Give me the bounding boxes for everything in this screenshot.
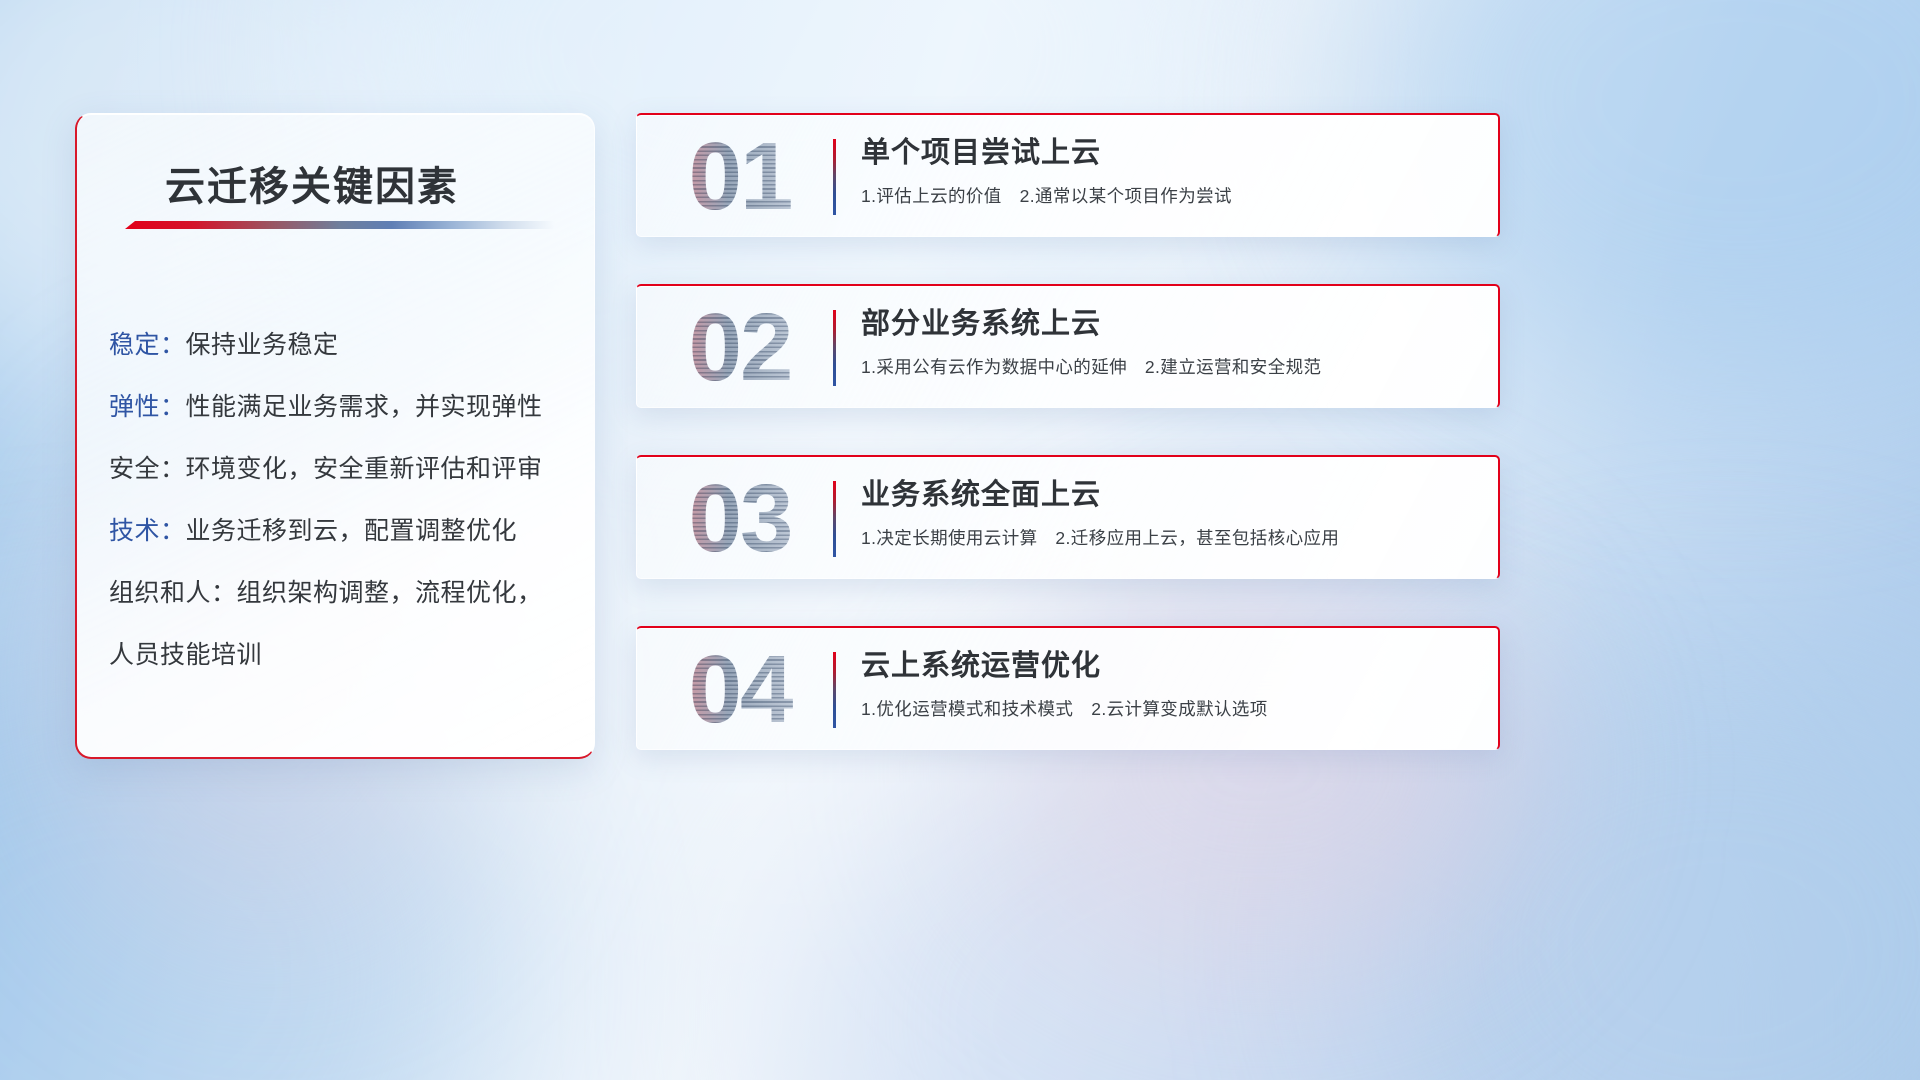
list-item-text: 保持业务稳定 — [186, 331, 339, 359]
list-item: 稳定：保持业务稳定 — [109, 314, 570, 376]
stage-title: 业务系统全面上云 — [861, 475, 1478, 515]
list-item: 弹性：性能满足业务需求，并实现弹性 — [109, 376, 570, 438]
stage-card-body: 业务系统全面上云 1.决定长期使用云计算 2.迁移应用上云，甚至包括核心应用 — [861, 475, 1478, 550]
stage-card-body: 云上系统运营优化 1.优化运营模式和技术模式 2.云计算变成默认选项 — [861, 646, 1478, 721]
stage-subtitle: 1.评估上云的价值 2.通常以某个项目作为尝试 — [861, 184, 1478, 208]
list-item-text: 人员技能培训 — [109, 641, 262, 669]
stage-card-body: 部分业务系统上云 1.采用公有云作为数据中心的延伸 2.建立运营和安全规范 — [861, 304, 1478, 379]
list-item-label: 安全： — [109, 455, 186, 483]
stage-number: 04 — [665, 634, 815, 746]
list-item-text: 性能满足业务需求，并实现弹性 — [186, 393, 543, 421]
stage-number: 03 — [665, 463, 815, 575]
stage-title: 部分业务系统上云 — [861, 304, 1478, 344]
stage-card-body: 单个项目尝试上云 1.评估上云的价值 2.通常以某个项目作为尝试 — [861, 133, 1478, 208]
list-item-label: 技术： — [109, 517, 186, 545]
key-factors-list: 稳定：保持业务稳定 弹性：性能满足业务需求，并实现弹性 安全：环境变化，安全重新… — [109, 314, 570, 686]
stage-card-02[interactable]: 02 部分业务系统上云 1.采用公有云作为数据中心的延伸 2.建立运营和安全规范 — [636, 284, 1500, 408]
stage-title: 单个项目尝试上云 — [861, 133, 1478, 173]
stage-card-03[interactable]: 03 业务系统全面上云 1.决定长期使用云计算 2.迁移应用上云，甚至包括核心应… — [636, 455, 1500, 579]
list-item-label: 弹性： — [109, 393, 186, 421]
stage-divider-bar — [833, 310, 836, 386]
stage-number: 01 — [665, 121, 815, 233]
key-factors-panel: 云迁移关键因素 稳定：保持业务稳定 弹性：性能满足业务需求，并实现弹性 安全：环… — [75, 113, 595, 759]
title-underline-accent — [125, 221, 555, 229]
stage-number: 02 — [665, 292, 815, 404]
list-item-text: 环境变化，安全重新评估和评审 — [186, 455, 543, 483]
list-item: 技术：业务迁移到云，配置调整优化 — [109, 500, 570, 562]
list-item: 人员技能培训 — [109, 624, 570, 686]
stage-subtitle: 1.决定长期使用云计算 2.迁移应用上云，甚至包括核心应用 — [861, 526, 1478, 550]
stage-divider-bar — [833, 481, 836, 557]
stage-subtitle: 1.采用公有云作为数据中心的延伸 2.建立运营和安全规范 — [861, 355, 1478, 379]
list-item-label: 稳定： — [109, 331, 186, 359]
stage-divider-bar — [833, 652, 836, 728]
stage-title: 云上系统运营优化 — [861, 646, 1478, 686]
stage-card-01[interactable]: 01 单个项目尝试上云 1.评估上云的价值 2.通常以某个项目作为尝试 — [636, 113, 1500, 237]
stage-subtitle: 1.优化运营模式和技术模式 2.云计算变成默认选项 — [861, 697, 1478, 721]
list-item-label: 组织和人： — [109, 579, 237, 607]
list-item-text: 业务迁移到云，配置调整优化 — [186, 517, 518, 545]
stage-divider-bar — [833, 139, 836, 215]
list-item: 安全：环境变化，安全重新评估和评审 — [109, 438, 570, 500]
list-item-text: 组织架构调整，流程优化， — [237, 579, 543, 607]
page-title: 云迁移关键因素 — [165, 154, 459, 212]
list-item: 组织和人：组织架构调整，流程优化， — [109, 562, 570, 624]
stage-card-04[interactable]: 04 云上系统运营优化 1.优化运营模式和技术模式 2.云计算变成默认选项 — [636, 626, 1500, 750]
